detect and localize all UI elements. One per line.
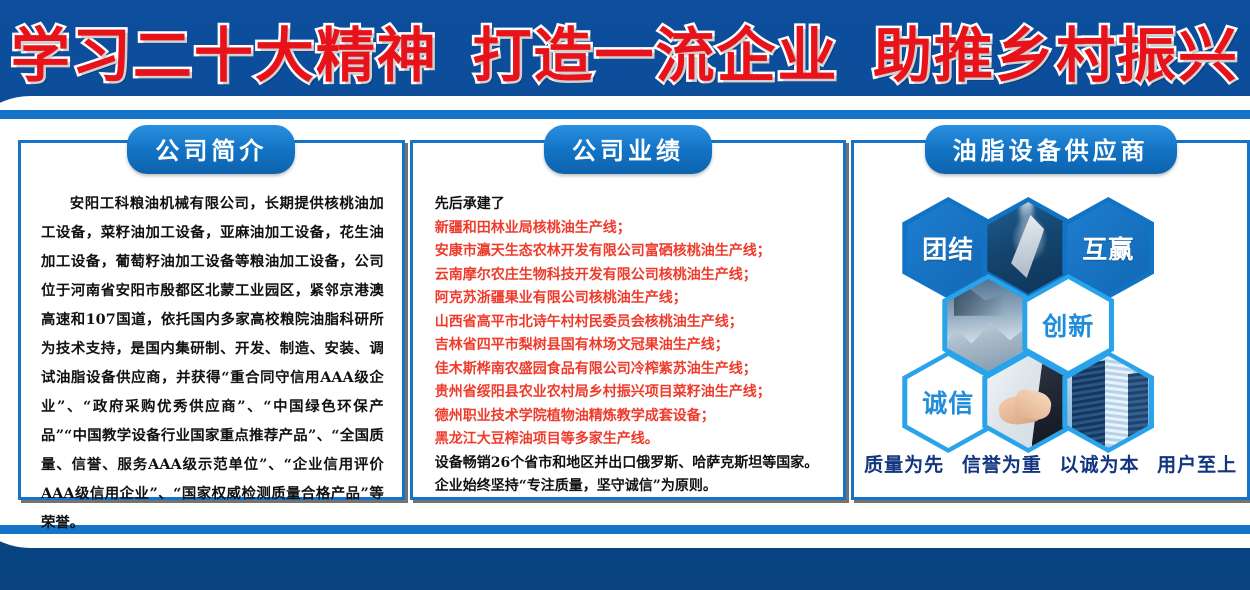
aircraft-carrier-image	[987, 202, 1069, 294]
carrier-deck-shape	[1009, 213, 1047, 279]
content-stage: 公司简介 安阳工科粮油机械有限公司，长期提供核桃油加工设备，菜籽油加工设备，亚麻…	[0, 96, 1250, 548]
slogan-part: 以诚为本	[1059, 454, 1139, 476]
performance-item: 德州职业技术学院植物油精炼教学成套设备；	[435, 405, 828, 429]
title-part-3: 助推乡村振兴	[873, 21, 1239, 90]
title-part-1: 学习二十大精神	[11, 21, 438, 90]
badge-supplier: 油脂设备供应商	[925, 125, 1177, 174]
hex-label: 创新	[1042, 307, 1094, 343]
mountain-success-image	[947, 279, 1029, 371]
hex-label: 互赢	[1082, 230, 1134, 266]
hex-inner: 团结	[907, 202, 989, 294]
hex-inner	[947, 279, 1029, 371]
panel-company-profile: 公司简介 安阳工科粮油机械有限公司，长期提供核桃油加工设备，菜籽油加工设备，亚麻…	[18, 140, 405, 500]
hex-inner: 诚信	[907, 356, 989, 448]
performance-lead: 先后承建了	[435, 193, 828, 217]
performance-tail: 企业始终坚持“专注质量，坚守诚信”为原则。	[435, 475, 828, 499]
performance-item: 贵州省绥阳县农业农村局乡村振兴项目菜籽油生产线；	[435, 381, 828, 405]
calligraphy-shape	[954, 288, 1005, 316]
hex-inner	[1067, 356, 1149, 448]
hex-inner: 创新	[1027, 279, 1109, 371]
company-profile-text: 安阳工科粮油机械有限公司，长期提供核桃油加工设备，菜籽油加工设备，亚麻油加工设备…	[41, 189, 384, 537]
hex-label: 诚信	[922, 384, 974, 420]
title-part-2: 打造一流企业	[472, 21, 838, 90]
performance-item: 新疆和田林业局核桃油生产线；	[435, 217, 828, 241]
panel-supplier: 油脂设备供应商 团结	[851, 140, 1250, 500]
performance-tail: 设备畅销26个省市和地区并出口俄罗斯、哈萨克斯坦等国家。	[435, 452, 828, 476]
hexagon-cluster: 团结 互赢	[854, 187, 1247, 455]
poster-header: 学习二十大精神 打造一流企业 助推乡村振兴	[0, 0, 1250, 100]
panel-row: 公司简介 安阳工科粮油机械有限公司，长期提供核桃油加工设备，菜籽油加工设备，亚麻…	[0, 96, 1250, 548]
hex-inner	[987, 356, 1069, 448]
performance-item: 安康市瀛天生态农林开发有限公司富硒核桃油生产线；	[435, 240, 828, 264]
performance-item: 云南摩尔农庄生物科技开发有限公司核桃油生产线；	[435, 264, 828, 288]
page-title: 学习二十大精神 打造一流企业 助推乡村振兴	[5, 8, 1245, 93]
performance-item: 佳木斯桦南农盛园食品有限公司冷榨紫苏油生产线；	[435, 358, 828, 382]
slogan-part: 信誉为重	[962, 454, 1042, 476]
building-shape	[1128, 372, 1148, 448]
panel-company-performance: 公司业绩 先后承建了 新疆和田林业局核桃油生产线； 安康市瀛天生态农林开发有限公…	[410, 140, 847, 500]
badge-company-performance: 公司业绩	[544, 125, 712, 174]
poster-root: 学习二十大精神 打造一流企业 助推乡村振兴 公司简介 安阳工科粮油机械有限公司，…	[0, 0, 1250, 590]
handshake-image	[987, 356, 1069, 448]
building-shape	[1072, 361, 1105, 448]
skyscraper-image	[1067, 356, 1149, 448]
performance-item: 吉林省四平市梨树县国有林场文冠果油生产线；	[435, 334, 828, 358]
badge-company-profile: 公司简介	[127, 125, 295, 174]
slogan-part: 用户至上	[1157, 454, 1237, 476]
hex-inner	[987, 202, 1069, 294]
performance-item: 山西省高平市北诗午村村民委员会核桃油生产线；	[435, 311, 828, 335]
supplier-slogan: 质量为先 信誉为重 以诚为本 用户至上	[854, 450, 1247, 477]
performance-item: 阿克苏浙疆果业有限公司核桃油生产线；	[435, 287, 828, 311]
hex-label: 团结	[922, 230, 974, 266]
slogan-part: 质量为先	[864, 454, 944, 476]
performance-item: 黑龙江大豆榨油项目等多家生产线。	[435, 428, 828, 452]
company-performance-text: 先后承建了 新疆和田林业局核桃油生产线； 安康市瀛天生态农林开发有限公司富硒核桃…	[435, 193, 828, 499]
hex-inner: 互赢	[1067, 202, 1149, 294]
